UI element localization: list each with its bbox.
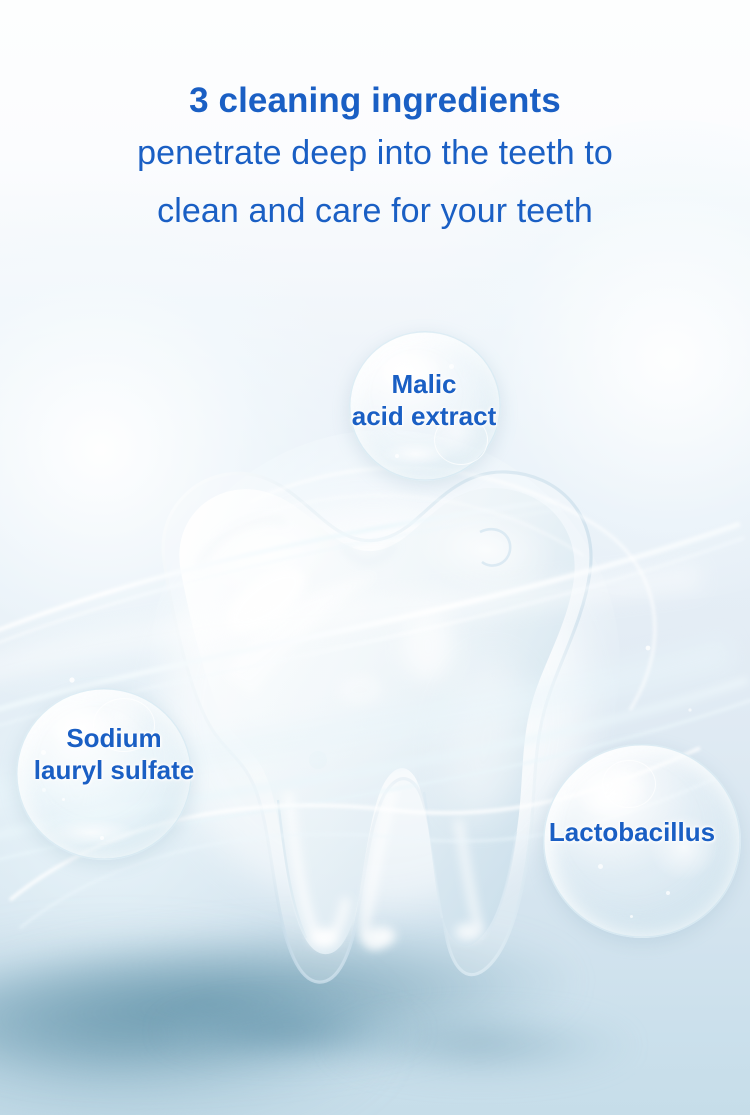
bubble-bottom-glint — [382, 442, 449, 466]
bubble-speck — [62, 798, 65, 801]
tooth-root-shadow-right — [330, 1010, 630, 1080]
bubble-speck — [630, 915, 633, 918]
ingredients-infographic-poster: 3 cleaning ingredients penetrate deep in… — [0, 0, 750, 1115]
bubble-bottom-glint — [48, 819, 136, 847]
headline-line-1: 3 cleaning ingredients — [0, 78, 750, 124]
ingredient-label-line-2: lauryl sulfate — [34, 755, 194, 785]
ingredient-label-line-1: Sodium — [66, 723, 161, 753]
headline-line-2: penetrate deep into the teeth to — [0, 124, 750, 182]
ingredient-label-lactobacillus: Lactobacillus — [528, 816, 736, 848]
ingredient-label-sodium-lauryl-sulfate: Sodium lauryl sulfate — [0, 722, 232, 786]
bubble-speck — [395, 454, 399, 458]
ingredient-label-line-2: acid extract — [352, 401, 497, 431]
headline-block: 3 cleaning ingredients penetrate deep in… — [0, 78, 750, 240]
bubble-highlight-ring — [602, 760, 655, 809]
ingredient-label-malic-acid-extract: Malic acid extract — [268, 368, 580, 432]
ingredient-label-line-1: Malic — [391, 369, 456, 399]
ingredient-label-line-1: Lactobacillus — [549, 817, 715, 847]
headline-line-3: clean and care for your teeth — [0, 182, 750, 240]
